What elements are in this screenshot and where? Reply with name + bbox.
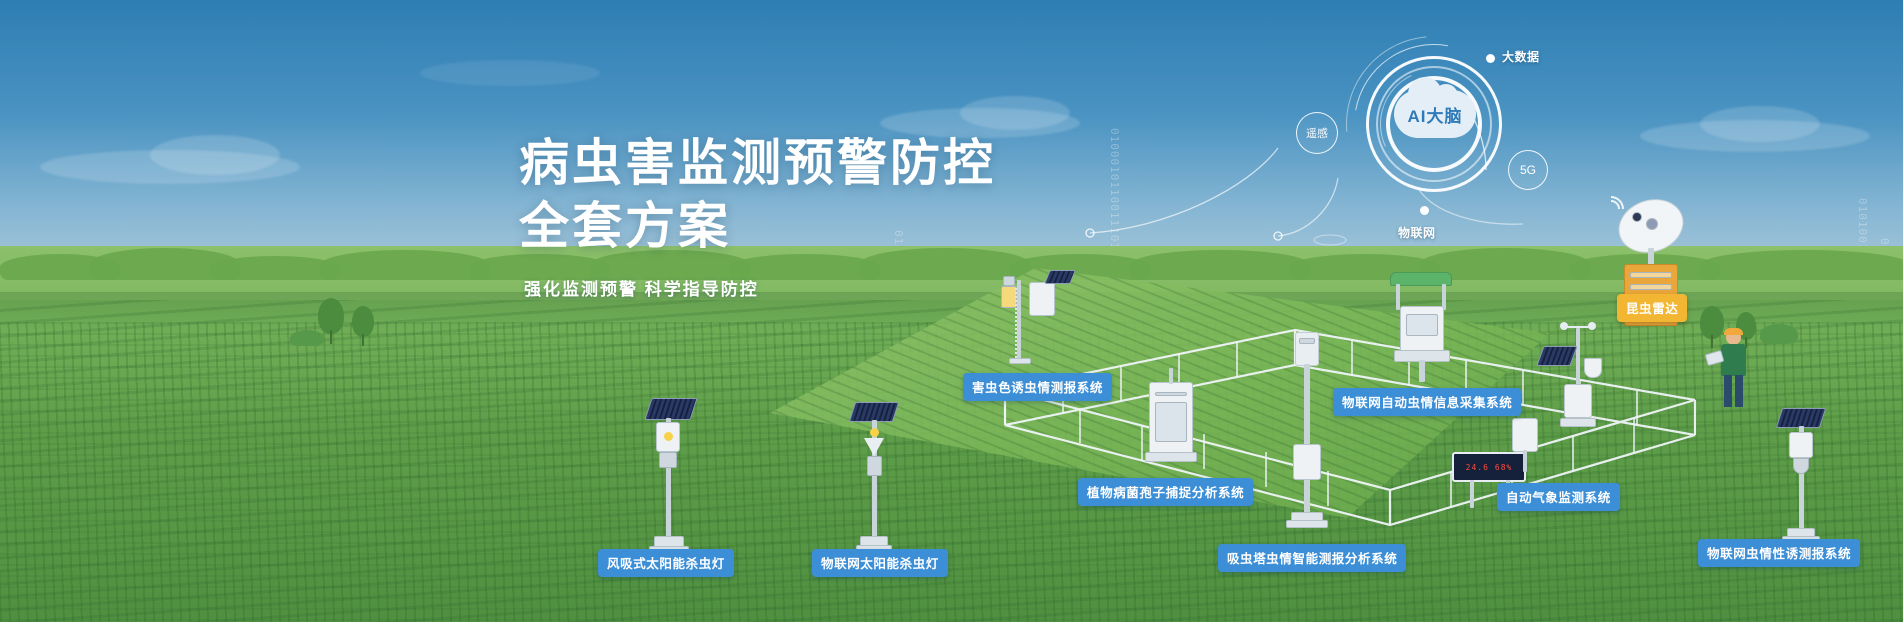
hero-title-block: 病虫害监测预警防控 全套方案 强化监测预警 科学指导防控 [519,132,996,300]
solar-panel [644,398,697,420]
hood-leg [1396,284,1400,310]
tower-cabinet [1293,444,1321,480]
node-remote-sensing[interactable]: 遥感 [1296,112,1338,154]
cloud-shape [420,60,600,86]
cloud-shape [1700,106,1820,142]
sensor-box [1003,276,1015,286]
device-base [1560,418,1596,427]
label-auto-weather-monitoring-system[interactable]: 自动气象监测系统 [1497,483,1620,511]
lamp-bulb [664,432,673,441]
device-field-sensor-post[interactable] [1508,418,1542,474]
device-pest-color-lure-reporting-system[interactable] [995,268,1073,364]
node-iot-dot [1420,206,1429,215]
solar-panel [1044,270,1076,284]
support-pole [1419,360,1425,382]
node-iot-label: 物联网 [1398,224,1436,241]
device-iot-solar-insect-lamp[interactable] [848,402,900,552]
tower-mast [1304,364,1310,514]
node-big-data-dot [1486,54,1495,63]
label-iot-auto-pest-info-collection-system[interactable]: 物联网自动虫情信息采集系统 [1333,388,1521,416]
board-leg [1470,480,1474,508]
radar-feed-horn [1646,218,1658,230]
device-base [1145,452,1197,462]
worker-cap-icon [1724,328,1743,335]
device-iot-pest-pheromone-reporting-system[interactable] [1775,408,1827,544]
label-wind-suction-solar-insect-lamp[interactable]: 风吸式太阳能杀虫灯 [598,549,734,577]
worker-leg [1724,375,1732,407]
pheromone-trap-housing [1789,432,1813,458]
lamp-bulb [870,428,879,437]
worker-torso [1721,344,1746,376]
tree [352,306,374,346]
sensor-post [1523,450,1527,472]
ai-brain-label: AI大脑 [1408,102,1463,127]
label-iot-solar-insect-lamp[interactable]: 物联网太阳能杀虫灯 [812,549,948,577]
data-logger-cabinet [1564,384,1592,418]
led-screen-value-1: 24.6 [1466,463,1489,472]
ai-hub: AI大脑 遥感 5G 大数据 物联网 [1268,38,1598,238]
label-pest-color-lure-reporting-system[interactable]: 害虫色诱虫情测报系统 [963,373,1112,401]
cloud-shape [150,135,280,175]
label-iot-pest-pheromone-reporting-system[interactable]: 物联网虫情性诱测报系统 [1698,539,1860,567]
ai-brain-cloud[interactable]: AI大脑 [1394,90,1476,138]
device-auto-weather-monitoring-system[interactable] [1540,328,1614,448]
device-footing [1286,520,1328,528]
funnel-cone [864,438,884,456]
bush [1760,324,1798,344]
collection-chamber [659,452,677,468]
tower-intake [1299,338,1315,344]
worker-leg [1735,375,1743,407]
collection-jar [867,456,882,476]
node-remote-sensing-label: 遥感 [1306,125,1328,141]
hero-subtitle: 强化监测预警 科学指导防控 [524,275,996,300]
illustration-canvas: 01000101100111010 0100101 0101001101011 … [0,0,1903,622]
solar-panel [849,402,899,422]
field-worker [1712,330,1756,414]
sensor-shield [1584,358,1602,378]
cabinet-vent [1155,392,1187,396]
label-plant-pathogen-spore-capture-analysis[interactable]: 植物病菌孢子捕捉分析系统 [1078,478,1253,506]
solar-panel [1776,408,1826,428]
intake-tube [1169,368,1173,384]
device-iot-auto-pest-info-collection-system[interactable] [1382,272,1462,384]
solar-panel [1536,346,1577,366]
device-base [1009,358,1031,364]
hero-title-line-1: 病虫害监测预警防控 [519,132,996,195]
sensor-cabinet [1512,418,1538,452]
device-suction-tower-pest-intelligent-analysis[interactable] [1285,332,1329,530]
radar-mount [1632,212,1642,222]
node-5g[interactable]: 5G [1508,150,1548,190]
body-panel [1406,314,1438,336]
trap-funnel [1793,458,1809,474]
node-big-data-label: 大数据 [1502,48,1540,65]
device-plant-pathogen-spore-capture-analysis[interactable] [1143,382,1203,470]
rack-shelf [1630,284,1672,290]
device-wind-suction-solar-insect-lamp[interactable] [640,398,698,553]
control-cabinet [1029,282,1055,316]
node-5g-label: 5G [1520,163,1536,177]
rack-shelf [1630,272,1672,278]
label-insect-radar[interactable]: 昆虫雷达 [1617,294,1687,322]
hero-title-line-2: 全套方案 [519,195,996,258]
label-suction-tower-pest-intelligent-analysis[interactable]: 吸虫塔虫情智能测报分析系统 [1218,544,1406,572]
cabinet-door [1155,402,1187,442]
bush [290,330,324,346]
